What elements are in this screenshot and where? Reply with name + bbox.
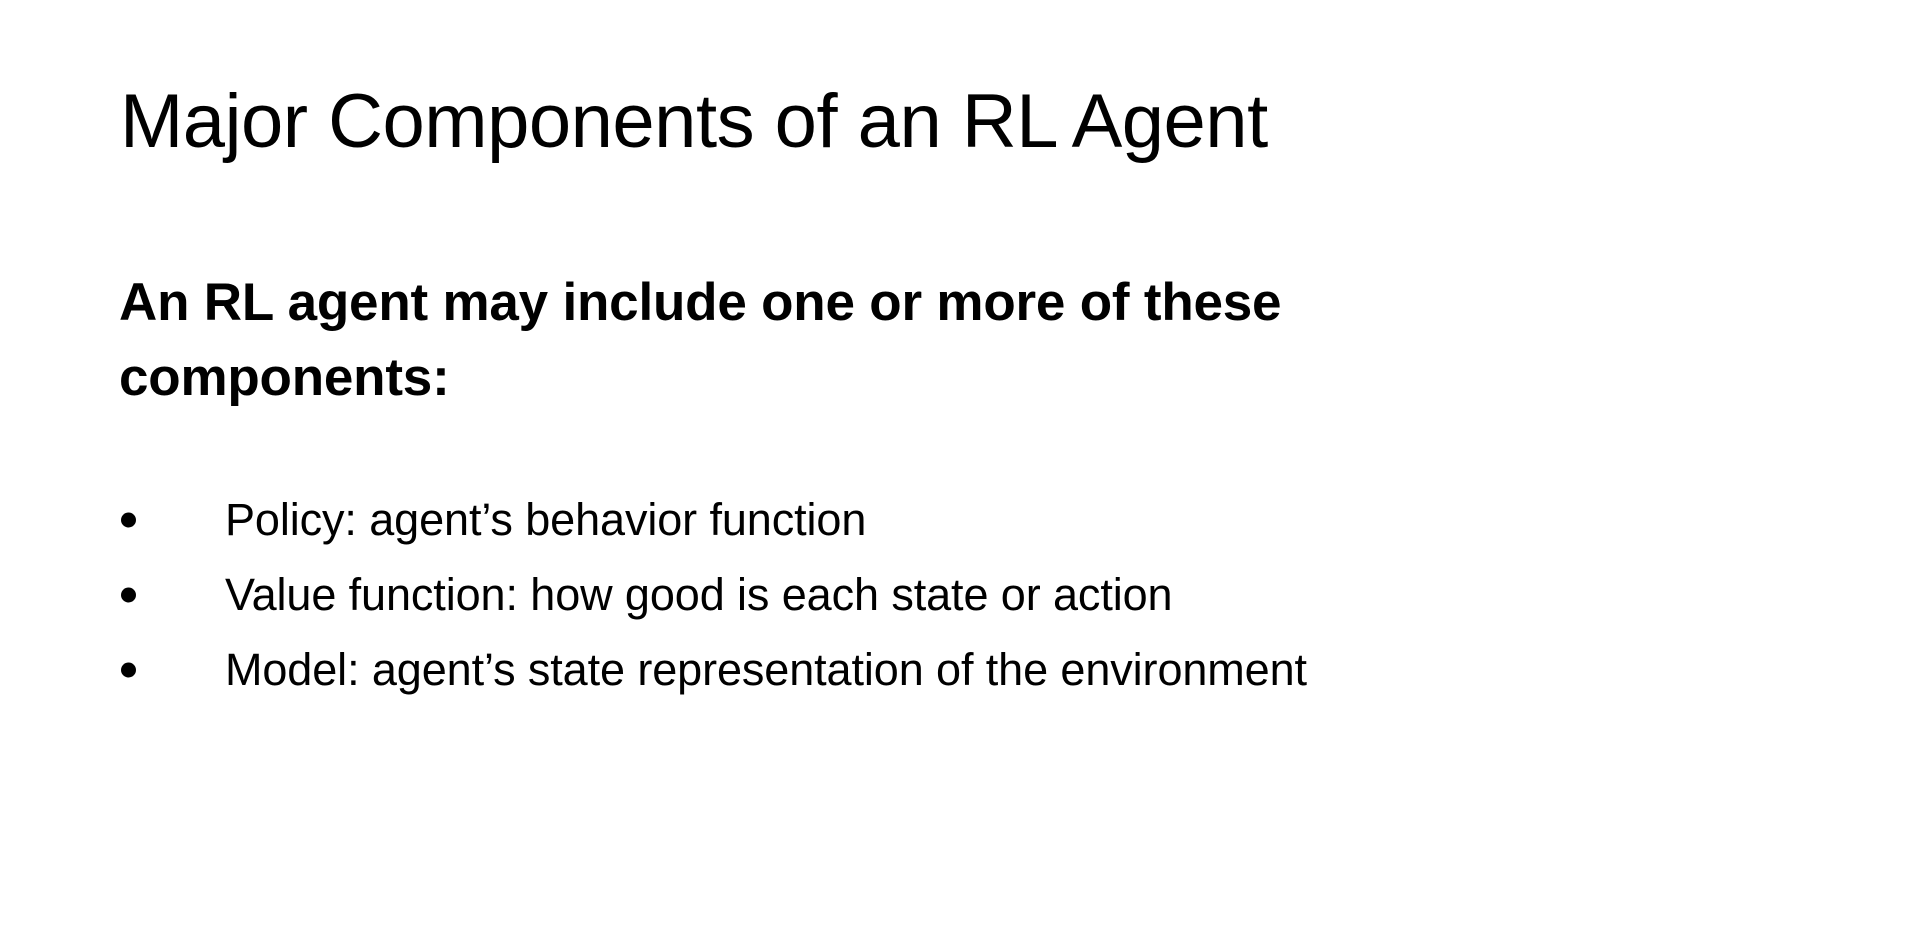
bullet-dot-icon — [121, 662, 136, 677]
list-item: Model: agent’s state representation of t… — [119, 632, 1839, 707]
slide-lead-in-text: An RL agent may include one or more of t… — [119, 265, 1419, 416]
list-item: Policy: agent’s behavior function — [119, 482, 1839, 557]
bullet-dot-icon — [121, 587, 136, 602]
list-item: Value function: how good is each state o… — [119, 557, 1839, 632]
slide-title: Major Components of an RL Agent — [120, 79, 1820, 164]
list-item-label: Policy: agent’s behavior function — [225, 497, 866, 542]
bullet-list: Policy: agent’s behavior function Value … — [119, 482, 1839, 707]
list-item-label: Model: agent’s state representation of t… — [225, 647, 1307, 692]
presentation-slide: Major Components of an RL Agent An RL ag… — [0, 0, 1920, 952]
list-item-label: Value function: how good is each state o… — [225, 572, 1172, 617]
bullet-dot-icon — [121, 512, 136, 527]
